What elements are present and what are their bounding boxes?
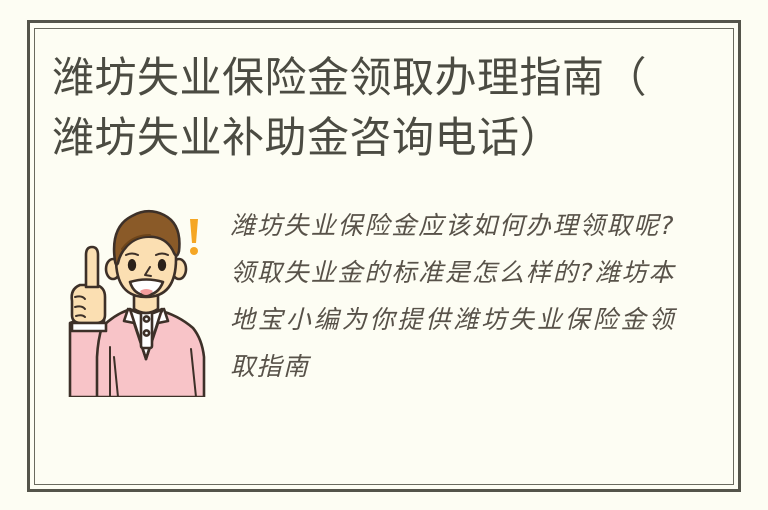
title-line-1: 潍坊失业保险金领取办理指南（: [52, 48, 692, 108]
body-paragraph: 潍坊失业保险金应该如何办理领取呢?领取失业金的标准是怎么样的?潍坊本地宝小编为你…: [230, 202, 675, 390]
illustration-man-pointing-up: [62, 197, 222, 397]
poster-card: 潍坊失业保险金领取办理指南（ 潍坊失业补助金咨询电话）: [0, 0, 768, 510]
title-line-2: 潍坊失业补助金咨询电话）: [52, 108, 692, 168]
page-title: 潍坊失业保险金领取办理指南（ 潍坊失业补助金咨询电话）: [52, 48, 692, 168]
content-area: 潍坊失业保险金应该如何办理领取呢?领取失业金的标准是怎么样的?潍坊本地宝小编为你…: [52, 192, 682, 407]
